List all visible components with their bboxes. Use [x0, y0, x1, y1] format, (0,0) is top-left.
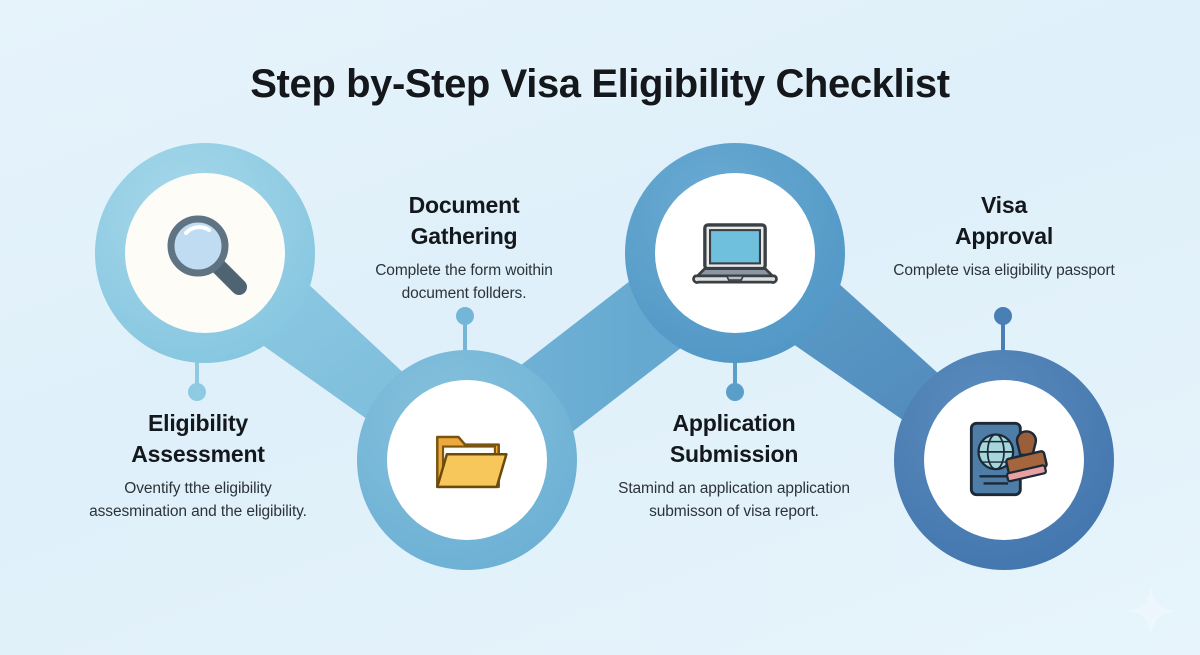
folder-icon	[412, 404, 524, 516]
step-description: Complete visa eligibility passport	[888, 260, 1120, 283]
stem-dot-3	[726, 383, 744, 401]
four-point-star-sparkle-icon	[1124, 584, 1178, 638]
step-text-eligibility-assessment: Eligibility Assessment Oventify tthe eli…	[82, 408, 314, 524]
stem-dot-2	[456, 307, 474, 325]
step-title: Application Submission	[618, 408, 850, 469]
step-title: Visa Approval	[888, 190, 1120, 251]
step-text-document-gathering: Document Gathering Complete the form woi…	[348, 190, 580, 306]
step-title: Eligibility Assessment	[82, 408, 314, 469]
step-description: Complete the form woithin document folld…	[348, 260, 580, 306]
step-text-application-submission: Application Submission Stamind an applic…	[618, 408, 850, 524]
step-text-visa-approval: Visa Approval Complete visa eligibility …	[888, 190, 1120, 283]
flow-diagram	[0, 0, 1200, 655]
passport-stamp-icon	[949, 404, 1061, 516]
step-description: Stamind an application application submi…	[618, 478, 850, 524]
laptop-icon	[679, 197, 791, 309]
step-description: Oventify tthe eligibility assesmination …	[82, 478, 314, 524]
infographic-canvas: Step by-Step Visa Eligibility Checklist	[0, 0, 1200, 655]
step-title: Document Gathering	[348, 190, 580, 251]
stem-dot-1	[188, 383, 206, 401]
magnifying-glass-icon	[149, 197, 261, 309]
stem-dot-4	[994, 307, 1012, 325]
